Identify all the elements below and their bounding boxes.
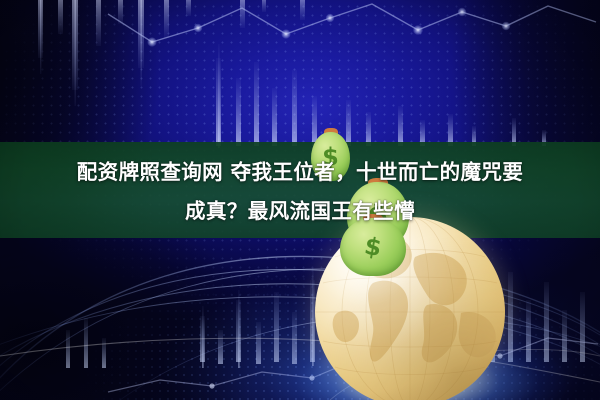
headline-line-1: 配资牌照查询网 夺我王位者，十世而亡的魔咒要 <box>0 153 600 192</box>
article-banner: $ $ $ 配资牌照查询网 夺我王位者，十世而亡的魔咒要 成真？最风流国王有些懵 <box>0 0 600 400</box>
headline-line-2: 成真？最风流国王有些懵 <box>0 192 600 231</box>
headline: 配资牌照查询网 夺我王位者，十世而亡的魔咒要 成真？最风流国王有些懵 <box>0 153 600 231</box>
